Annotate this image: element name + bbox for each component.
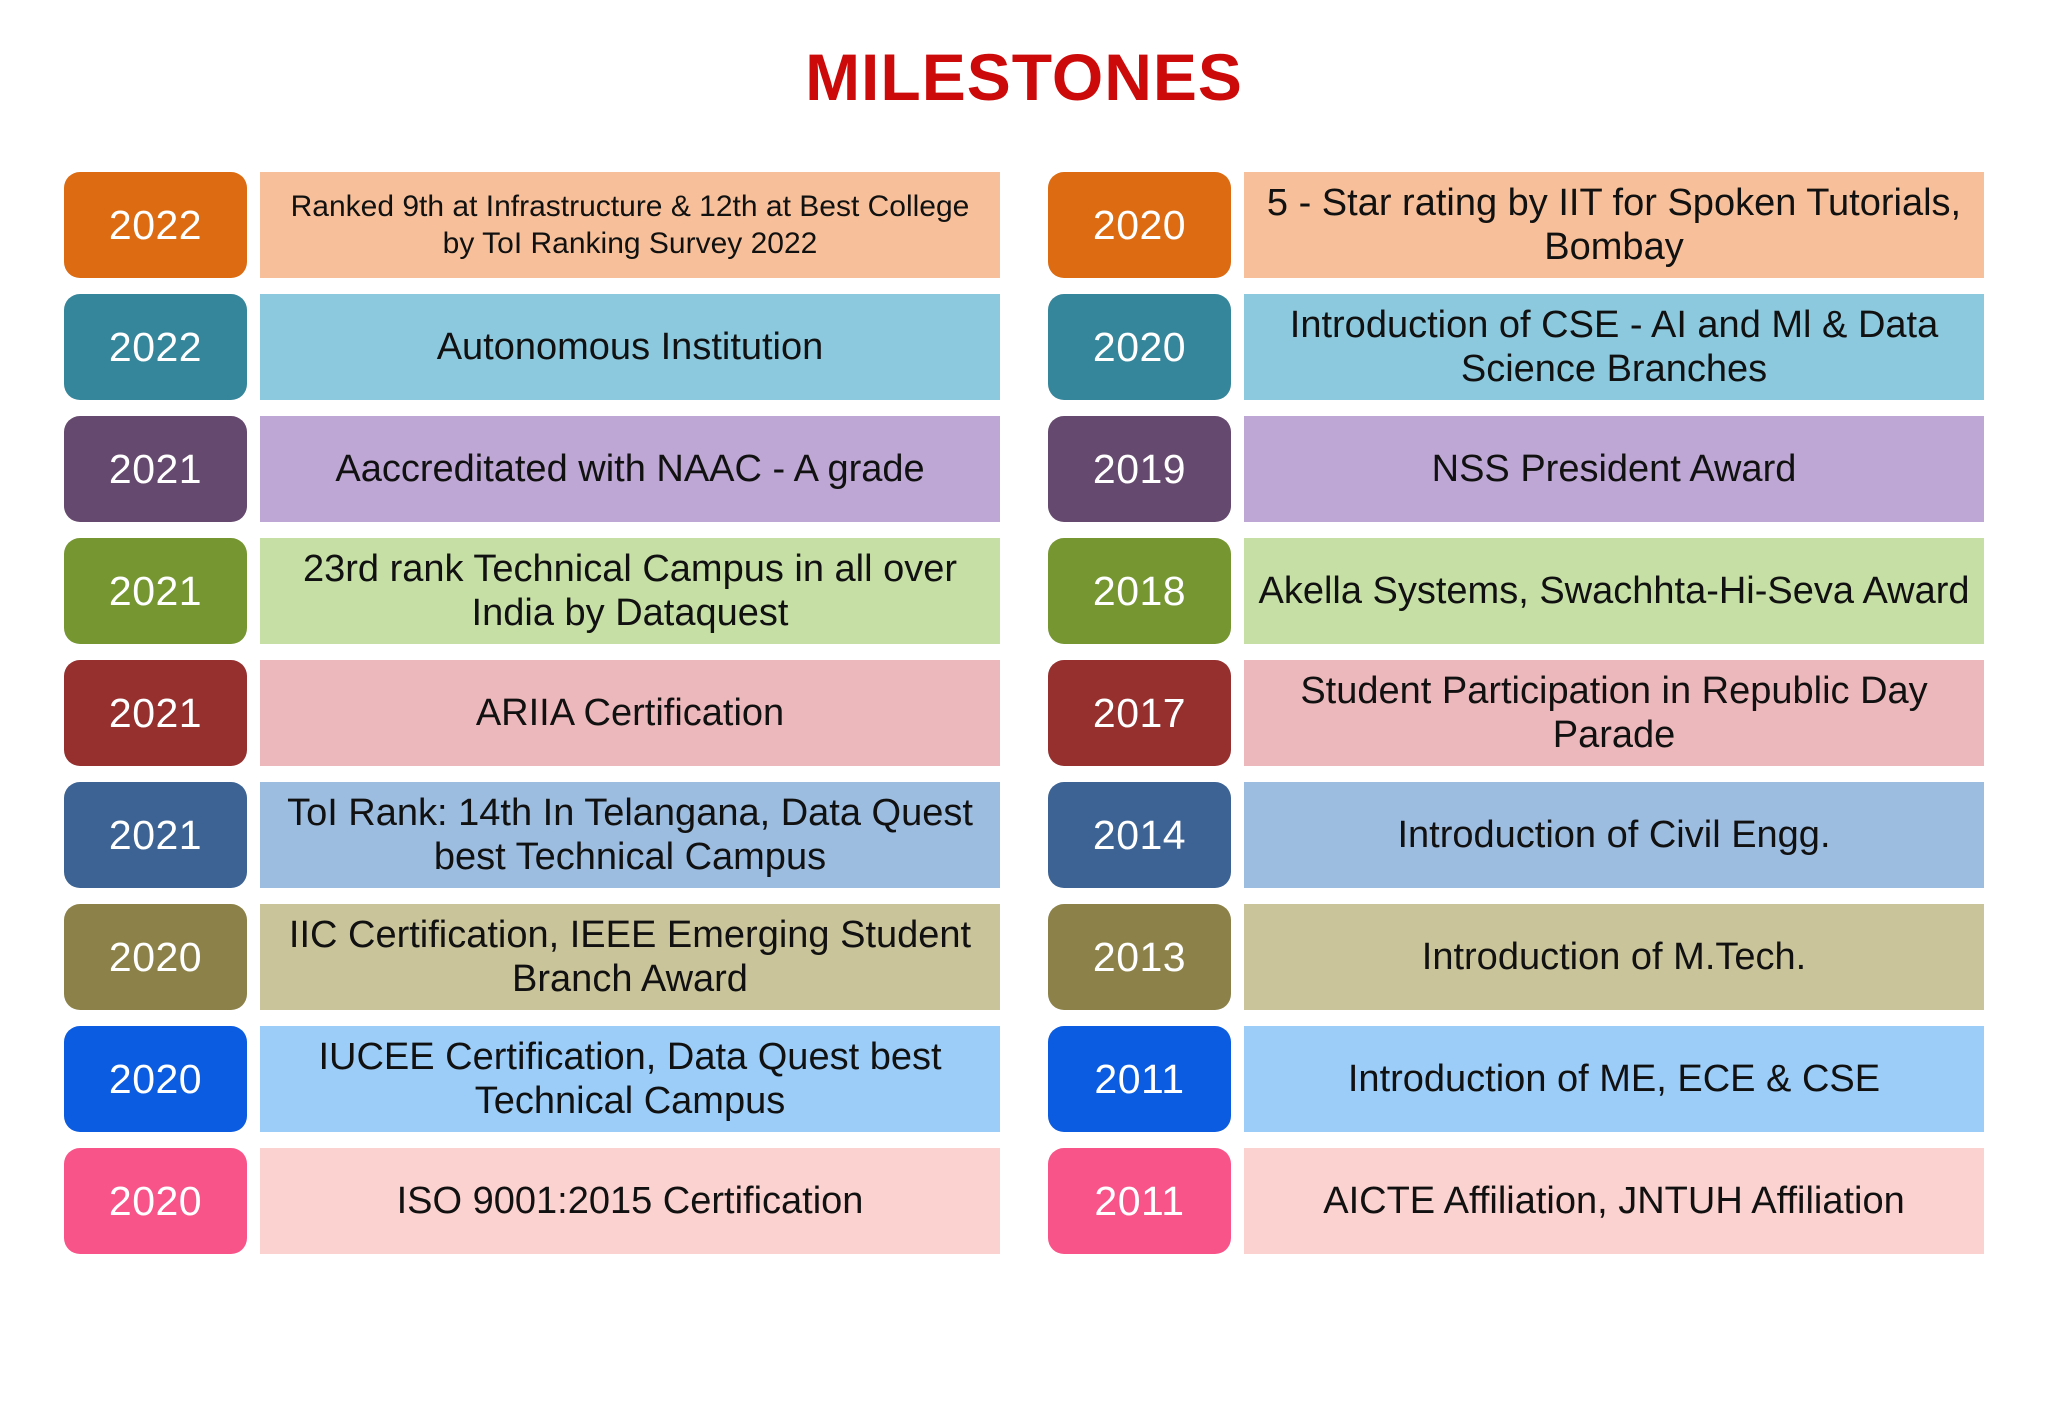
milestone-description-text: IUCEE Certification, Data Quest best Tec… bbox=[274, 1035, 986, 1123]
milestone-row: 2020IUCEE Certification, Data Quest best… bbox=[64, 1026, 1000, 1132]
milestone-row: 2021ToI Rank: 14th In Telangana, Data Qu… bbox=[64, 782, 1000, 888]
milestone-year-badge: 2021 bbox=[64, 416, 247, 522]
milestone-description-text: ISO 9001:2015 Certification bbox=[274, 1179, 986, 1223]
milestone-description-panel: AICTE Affiliation, JNTUH Affiliation bbox=[1244, 1148, 1984, 1254]
milestone-row: 2022Ranked 9th at Infrastructure & 12th … bbox=[64, 172, 1000, 278]
milestone-year-badge: 2020 bbox=[64, 1026, 247, 1132]
milestone-year-badge: 2019 bbox=[1048, 416, 1231, 522]
milestone-description-panel: Autonomous Institution bbox=[260, 294, 1000, 400]
milestone-year-badge: 2021 bbox=[64, 538, 247, 644]
milestone-description-panel: Akella Systems, Swachhta-Hi-Seva Award bbox=[1244, 538, 1984, 644]
milestone-year-badge: 2020 bbox=[64, 904, 247, 1010]
milestone-description-text: Introduction of CSE - AI and Ml & Data S… bbox=[1258, 303, 1970, 391]
milestone-year-badge: 2013 bbox=[1048, 904, 1231, 1010]
milestone-row: 2019NSS President Award bbox=[1048, 416, 1984, 522]
milestone-year-badge: 2014 bbox=[1048, 782, 1231, 888]
milestone-description-panel: IUCEE Certification, Data Quest best Tec… bbox=[260, 1026, 1000, 1132]
milestone-row: 202123rd rank Technical Campus in all ov… bbox=[64, 538, 1000, 644]
milestone-description-text: ARIIA Certification bbox=[274, 691, 986, 735]
milestone-description-text: 5 - Star rating by IIT for Spoken Tutori… bbox=[1258, 181, 1970, 269]
milestone-row: 2014Introduction of Civil Engg. bbox=[1048, 782, 1984, 888]
milestone-year-badge: 2020 bbox=[1048, 172, 1231, 278]
milestone-description-panel: Student Participation in Republic Day Pa… bbox=[1244, 660, 1984, 766]
milestone-description-panel: ARIIA Certification bbox=[260, 660, 1000, 766]
milestone-row: 2022Autonomous Institution bbox=[64, 294, 1000, 400]
milestone-year-badge: 2011 bbox=[1048, 1148, 1231, 1254]
milestone-year-badge: 2017 bbox=[1048, 660, 1231, 766]
milestone-year-badge: 2022 bbox=[64, 294, 247, 400]
milestone-description-text: Aaccreditated with NAAC - A grade bbox=[274, 447, 986, 491]
milestones-infographic: MILESTONES 2022Ranked 9th at Infrastruct… bbox=[0, 0, 2048, 1418]
milestone-description-text: Student Participation in Republic Day Pa… bbox=[1258, 669, 1970, 757]
milestone-description-text: Autonomous Institution bbox=[274, 325, 986, 369]
milestone-description-text: Introduction of M.Tech. bbox=[1258, 935, 1970, 979]
milestone-description-panel: 23rd rank Technical Campus in all over I… bbox=[260, 538, 1000, 644]
milestone-description-panel: Aaccreditated with NAAC - A grade bbox=[260, 416, 1000, 522]
milestone-row: 2021Aaccreditated with NAAC - A grade bbox=[64, 416, 1000, 522]
milestone-description-panel: Introduction of ME, ECE & CSE bbox=[1244, 1026, 1984, 1132]
milestone-row: 2011Introduction of ME, ECE & CSE bbox=[1048, 1026, 1984, 1132]
milestone-year-badge: 2021 bbox=[64, 660, 247, 766]
milestone-description-text: AICTE Affiliation, JNTUH Affiliation bbox=[1258, 1179, 1970, 1223]
milestone-column-right: 20205 - Star rating by IIT for Spoken Tu… bbox=[1048, 172, 1984, 1254]
milestone-description-panel: Introduction of CSE - AI and Ml & Data S… bbox=[1244, 294, 1984, 400]
milestone-row: 20205 - Star rating by IIT for Spoken Tu… bbox=[1048, 172, 1984, 278]
milestone-description-text: NSS President Award bbox=[1258, 447, 1970, 491]
milestone-year-badge: 2011 bbox=[1048, 1026, 1231, 1132]
milestone-row: 2020IIC Certification, IEEE Emerging Stu… bbox=[64, 904, 1000, 1010]
milestone-year-badge: 2020 bbox=[64, 1148, 247, 1254]
milestone-description-text: Introduction of ME, ECE & CSE bbox=[1258, 1057, 1970, 1101]
milestone-row: 2011AICTE Affiliation, JNTUH Affiliation bbox=[1048, 1148, 1984, 1254]
milestone-description-text: Ranked 9th at Infrastructure & 12th at B… bbox=[274, 188, 986, 262]
milestone-description-panel: Introduction of M.Tech. bbox=[1244, 904, 1984, 1010]
milestone-columns: 2022Ranked 9th at Infrastructure & 12th … bbox=[0, 172, 2048, 1254]
milestone-description-panel: ToI Rank: 14th In Telangana, Data Quest … bbox=[260, 782, 1000, 888]
milestone-description-text: IIC Certification, IEEE Emerging Student… bbox=[274, 913, 986, 1001]
milestone-column-left: 2022Ranked 9th at Infrastructure & 12th … bbox=[64, 172, 1000, 1254]
milestone-row: 2013Introduction of M.Tech. bbox=[1048, 904, 1984, 1010]
milestone-description-panel: NSS President Award bbox=[1244, 416, 1984, 522]
milestone-row: 2020Introduction of CSE - AI and Ml & Da… bbox=[1048, 294, 1984, 400]
milestone-description-panel: 5 - Star rating by IIT for Spoken Tutori… bbox=[1244, 172, 1984, 278]
milestone-description-panel: Introduction of Civil Engg. bbox=[1244, 782, 1984, 888]
milestone-row: 2017Student Participation in Republic Da… bbox=[1048, 660, 1984, 766]
milestone-description-panel: IIC Certification, IEEE Emerging Student… bbox=[260, 904, 1000, 1010]
milestone-row: 2021ARIIA Certification bbox=[64, 660, 1000, 766]
page-title: MILESTONES bbox=[0, 0, 2048, 110]
milestone-description-text: ToI Rank: 14th In Telangana, Data Quest … bbox=[274, 791, 986, 879]
milestone-description-panel: ISO 9001:2015 Certification bbox=[260, 1148, 1000, 1254]
milestone-year-badge: 2022 bbox=[64, 172, 247, 278]
milestone-year-badge: 2021 bbox=[64, 782, 247, 888]
milestone-year-badge: 2020 bbox=[1048, 294, 1231, 400]
milestone-description-panel: Ranked 9th at Infrastructure & 12th at B… bbox=[260, 172, 1000, 278]
milestone-description-text: Akella Systems, Swachhta-Hi-Seva Award bbox=[1258, 569, 1970, 613]
milestone-description-text: 23rd rank Technical Campus in all over I… bbox=[274, 547, 986, 635]
milestone-row: 2018Akella Systems, Swachhta-Hi-Seva Awa… bbox=[1048, 538, 1984, 644]
milestone-description-text: Introduction of Civil Engg. bbox=[1258, 813, 1970, 857]
milestone-row: 2020ISO 9001:2015 Certification bbox=[64, 1148, 1000, 1254]
milestone-year-badge: 2018 bbox=[1048, 538, 1231, 644]
